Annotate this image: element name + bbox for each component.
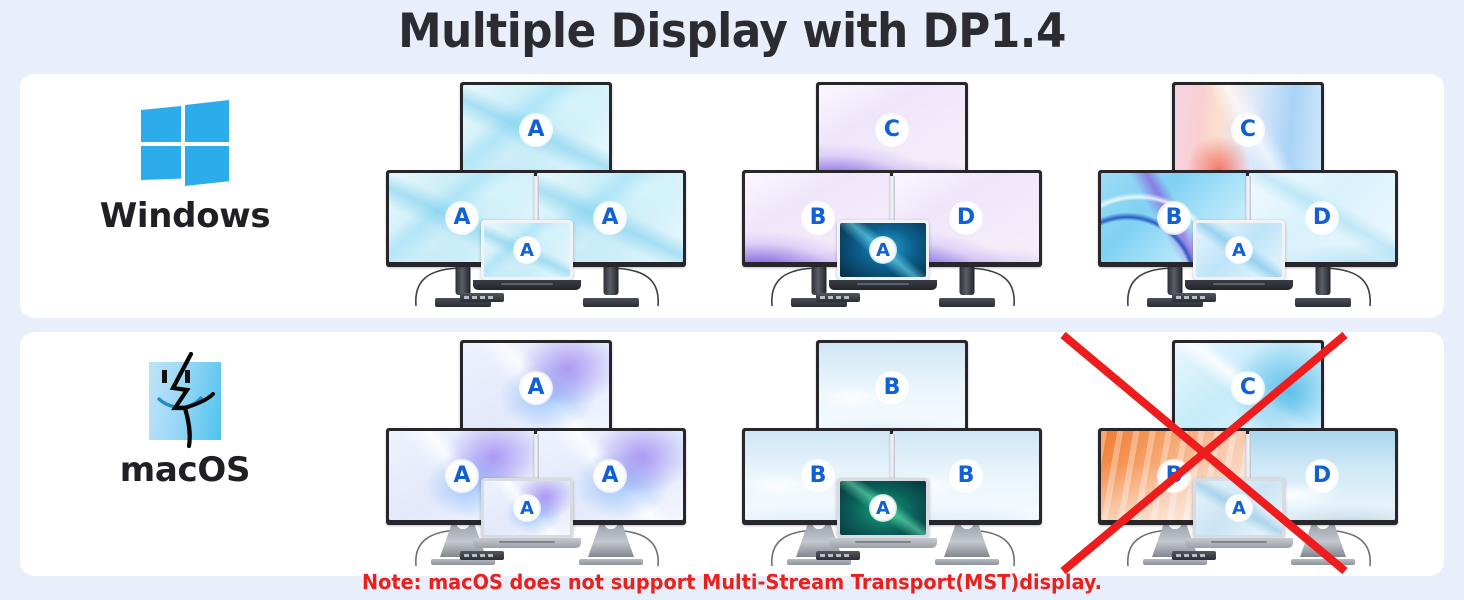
screen-label-badge: A [593, 201, 627, 235]
hub-ports-icon [820, 554, 850, 557]
monitor-top[interactable]: A [460, 82, 612, 179]
screen-label-badge: A [869, 494, 897, 522]
laptop[interactable]: A [1193, 220, 1285, 280]
screen-label-badge: A [445, 201, 479, 235]
monitor-group-mac-mirror[interactable]: A A A A [386, 338, 686, 568]
laptop-base [829, 280, 937, 290]
screen-label-badge: B [1157, 201, 1191, 235]
infographic-page: Multiple Display with DP1.4 Windows A [0, 0, 1464, 600]
monitor-stand-right [938, 265, 996, 307]
laptop-base [829, 538, 937, 548]
monitor-group-win-mirror[interactable]: A A A A [386, 80, 686, 310]
screen-label-badge: C [1231, 113, 1265, 147]
laptop[interactable]: A [837, 478, 929, 538]
monitor-stand-right [938, 523, 996, 565]
monitor-stand-right [582, 523, 640, 565]
screen-label-badge: D [949, 201, 983, 235]
laptop-base [1185, 280, 1293, 290]
os-name-text: Windows [60, 196, 310, 236]
monitor-group-win-extend-1[interactable]: C B D A [742, 80, 1042, 310]
hub-ports-icon [1176, 296, 1206, 299]
monitor-top[interactable]: C [1172, 82, 1324, 179]
monitor-top[interactable]: A [460, 340, 612, 437]
usb-hub-dock[interactable] [816, 551, 860, 560]
hub-ports-icon [820, 296, 850, 299]
screen-label-badge: A [513, 236, 541, 264]
hub-ports-icon [464, 554, 494, 557]
screen-label-badge: B [875, 371, 909, 405]
screen-label-badge: D [1305, 201, 1339, 235]
cross-out-icon [1058, 330, 1350, 576]
screen-label-badge: B [801, 459, 835, 493]
page-title: Multiple Display with DP1.4 [51, 4, 1413, 59]
os-name-text: macOS [60, 450, 310, 490]
laptop[interactable]: A [837, 220, 929, 280]
screen-label-badge: C [875, 113, 909, 147]
os-label-windows: Windows [60, 100, 310, 236]
screen-label-badge: B [949, 459, 983, 493]
screen-label-badge: A [513, 494, 541, 522]
monitor-group-win-extend-2[interactable]: C B D A [1098, 80, 1398, 310]
laptop-base [473, 538, 581, 548]
screen-label-badge: A [869, 236, 897, 264]
windows-row-card: Windows A A A A [20, 74, 1444, 318]
screen-label-badge: A [1225, 236, 1253, 264]
monitor-top[interactable]: B [816, 340, 968, 437]
screen-label-badge: A [445, 459, 479, 493]
laptop[interactable]: A [481, 478, 573, 538]
screen-label-badge: A [519, 113, 553, 147]
laptop[interactable]: A [481, 220, 573, 280]
os-label-macos: macOS [60, 362, 310, 490]
monitor-top[interactable]: C [816, 82, 968, 179]
windows-logo-icon [141, 100, 229, 184]
monitor-stand-right [1294, 265, 1352, 307]
monitor-stand-right [582, 265, 640, 307]
usb-hub-dock[interactable] [460, 551, 504, 560]
macos-finder-face-icon [149, 362, 221, 440]
laptop-base [473, 280, 581, 290]
screen-label-badge: A [593, 459, 627, 493]
screen-label-badge: B [801, 201, 835, 235]
footnote-text: Note: macOS does not support Multi-Strea… [44, 570, 1420, 594]
usb-hub-dock[interactable] [1172, 293, 1216, 302]
screen-label-badge: A [519, 371, 553, 405]
monitor-group-mac-mirror-b[interactable]: B B B A [742, 338, 1042, 568]
usb-hub-dock[interactable] [816, 293, 860, 302]
hub-ports-icon [464, 296, 494, 299]
usb-hub-dock[interactable] [460, 293, 504, 302]
